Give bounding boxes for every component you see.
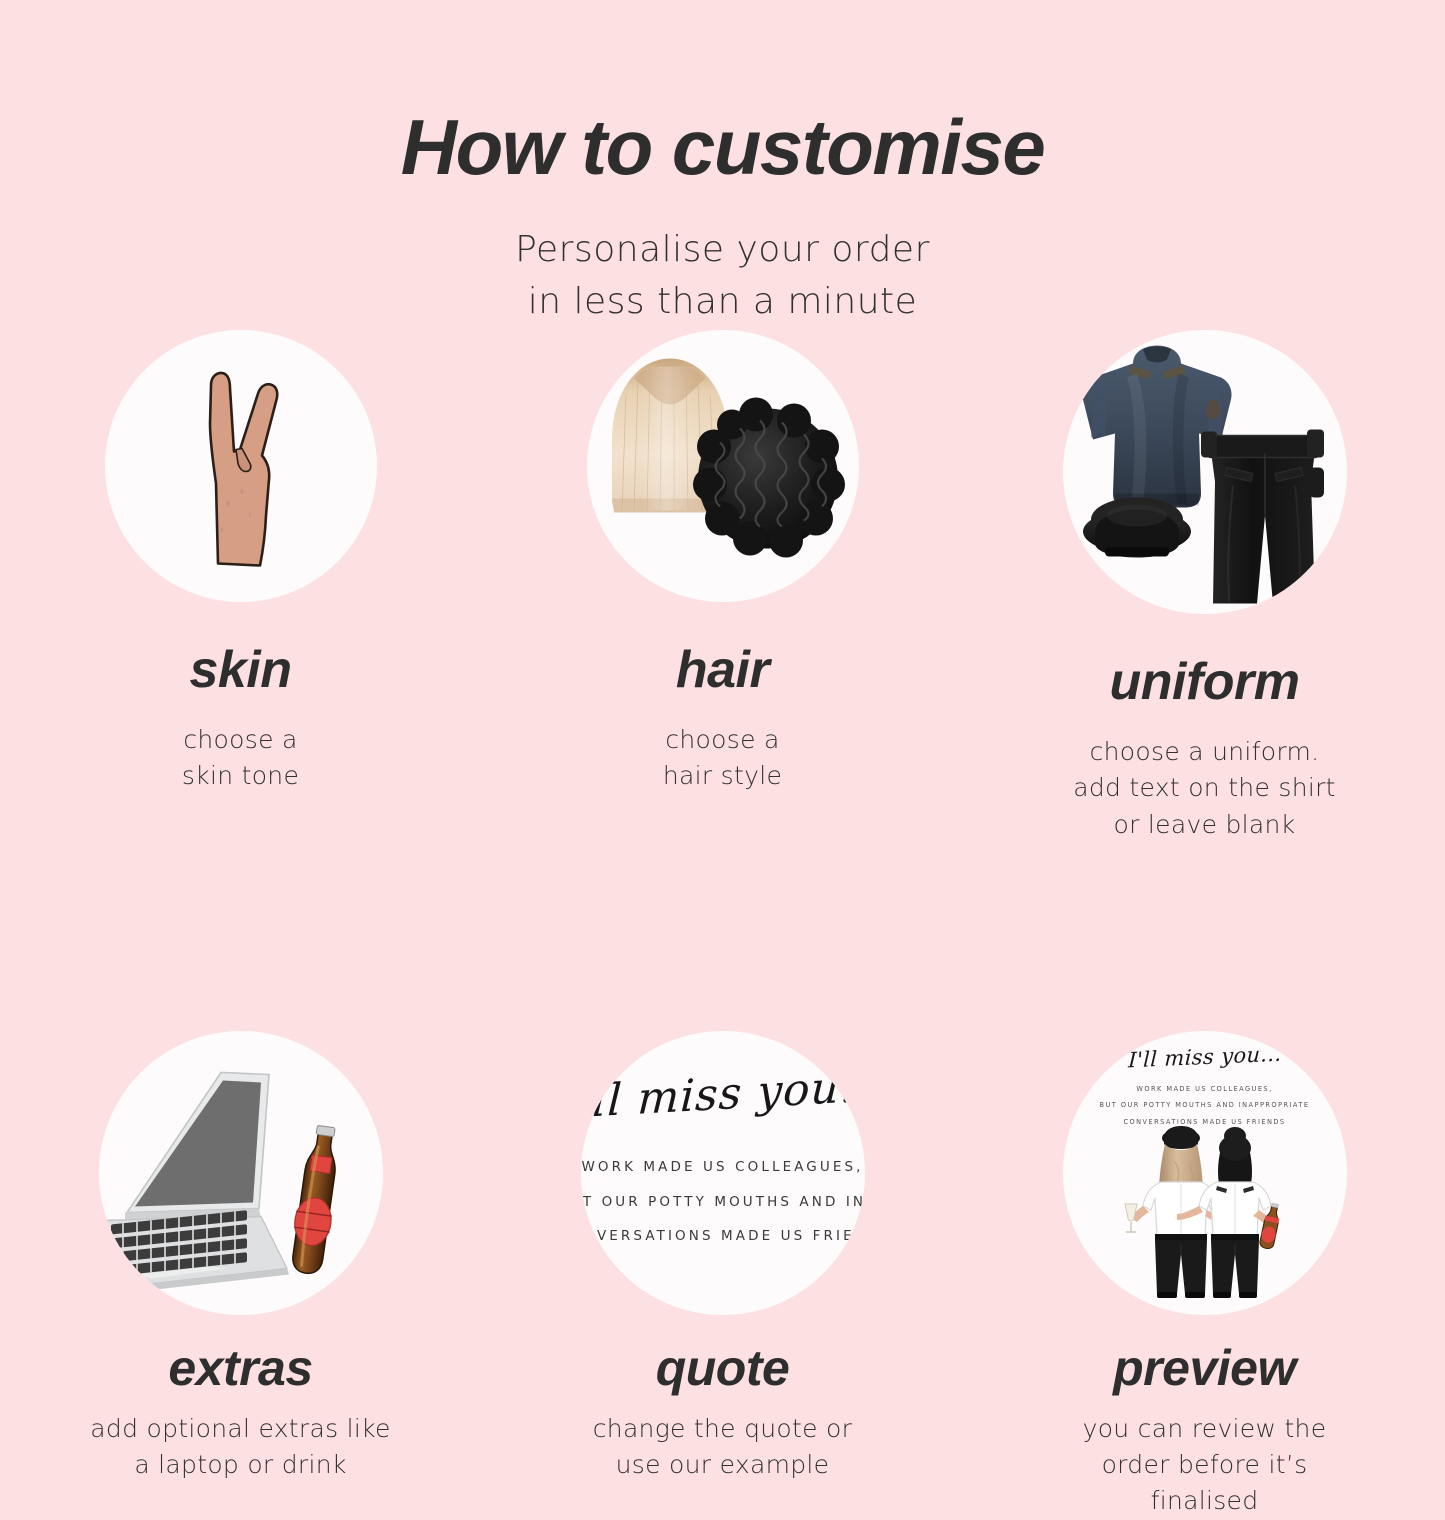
step-desc-preview: you can review the order before it’s fin…: [1083, 1411, 1327, 1520]
step-label-hair: hair: [676, 644, 769, 696]
quote-script-text: I'll miss you...: [581, 1060, 865, 1130]
subtitle-line-2: in less than a minute: [0, 276, 1445, 328]
step-desc-line: choose a uniform.: [1073, 734, 1336, 770]
step-desc-line: choose a: [663, 722, 782, 758]
step-desc-line: finalised: [1083, 1483, 1327, 1519]
step-desc-line: or leave blank: [1073, 807, 1336, 843]
step-label-preview: preview: [1113, 1343, 1296, 1393]
step-desc-line: use our example: [593, 1447, 852, 1483]
infographic-page: How to customise Personalise your order …: [0, 0, 1445, 1445]
header: How to customise Personalise your order …: [0, 108, 1445, 328]
step-desc-line: order before it’s: [1083, 1447, 1327, 1483]
step-desc-line: a laptop or drink: [90, 1447, 390, 1483]
preview-body-text: WORK MADE US COLLEAGUES, BUT OUR POTTY M…: [1080, 1081, 1330, 1130]
page-subtitle: Personalise your order in less than a mi…: [0, 224, 1445, 328]
page-title: How to customise: [0, 108, 1445, 186]
skin-image-circle: [105, 330, 377, 602]
step-desc-quote: change the quote or use our example: [593, 1411, 852, 1484]
quote-line-2: BUT OUR POTTY MOUTHS AND INAPPROPRIATE: [581, 1185, 865, 1219]
peace-hand-icon: [166, 364, 316, 579]
step-desc-line: you can review the: [1083, 1411, 1327, 1447]
step-desc-line: change the quote or: [593, 1411, 852, 1447]
steps-row-top: skin choose a skin tone: [0, 330, 1445, 843]
step-card-skin[interactable]: skin choose a skin tone: [0, 330, 481, 843]
quote-line-3: CONVERSATIONS MADE US FRIENDS: [581, 1219, 865, 1253]
step-desc-uniform: choose a uniform. add text on the shirt …: [1073, 734, 1336, 843]
step-card-hair[interactable]: hair choose a hair style: [482, 330, 963, 843]
extras-image-circle: [99, 1031, 383, 1315]
steps-row-bottom: extras add optional extras like a laptop…: [0, 1031, 1445, 1520]
step-desc-line: choose a: [182, 722, 299, 758]
step-desc-line: add text on the shirt: [1073, 770, 1336, 806]
subtitle-line-1: Personalise your order: [0, 224, 1445, 276]
step-label-extras: extras: [168, 1343, 312, 1393]
quote-line-1: WORK MADE US COLLEAGUES,: [581, 1150, 865, 1184]
uniform-image-circle: [1063, 330, 1347, 614]
wig-styles-icon: [598, 349, 848, 584]
step-card-preview[interactable]: I'll miss you... WORK MADE US COLLEAGUES…: [964, 1031, 1445, 1520]
step-label-uniform: uniform: [1109, 656, 1299, 708]
order-preview-icon: I'll miss you... WORK MADE US COLLEAGUES…: [1080, 1031, 1330, 1130]
preview-figures-illustration: [1115, 1126, 1295, 1307]
quote-card-preview: I'll miss you... WORK MADE US COLLEAGUES…: [581, 1069, 865, 1253]
step-card-quote[interactable]: I'll miss you... WORK MADE US COLLEAGUES…: [482, 1031, 963, 1520]
police-uniform-icon: [1063, 330, 1347, 614]
preview-image-circle: I'll miss you... WORK MADE US COLLEAGUES…: [1063, 1031, 1347, 1315]
hair-image-circle: [587, 330, 859, 602]
preview-script-text: I'll miss you...: [1079, 1039, 1330, 1074]
laptop-and-bottle-icon: [99, 1031, 383, 1315]
preview-line-1: WORK MADE US COLLEAGUES,: [1080, 1081, 1330, 1097]
step-desc-line: skin tone: [182, 758, 299, 794]
step-label-quote: quote: [656, 1343, 790, 1393]
preview-line-2: BUT OUR POTTY MOUTHS AND INAPPROPRIATE: [1080, 1097, 1330, 1113]
step-label-skin: skin: [189, 644, 291, 696]
step-card-uniform[interactable]: uniform choose a uniform. add text on th…: [964, 330, 1445, 843]
quote-body-text: WORK MADE US COLLEAGUES, BUT OUR POTTY M…: [581, 1150, 865, 1253]
step-desc-hair: choose a hair style: [663, 722, 782, 795]
step-card-extras[interactable]: extras add optional extras like a laptop…: [0, 1031, 481, 1520]
step-desc-line: add optional extras like: [90, 1411, 390, 1447]
step-desc-skin: choose a skin tone: [182, 722, 299, 795]
quote-image-circle: I'll miss you... WORK MADE US COLLEAGUES…: [581, 1031, 865, 1315]
step-desc-line: hair style: [663, 758, 782, 794]
step-desc-extras: add optional extras like a laptop or dri…: [90, 1411, 390, 1484]
steps-grid: skin choose a skin tone: [0, 330, 1445, 1520]
